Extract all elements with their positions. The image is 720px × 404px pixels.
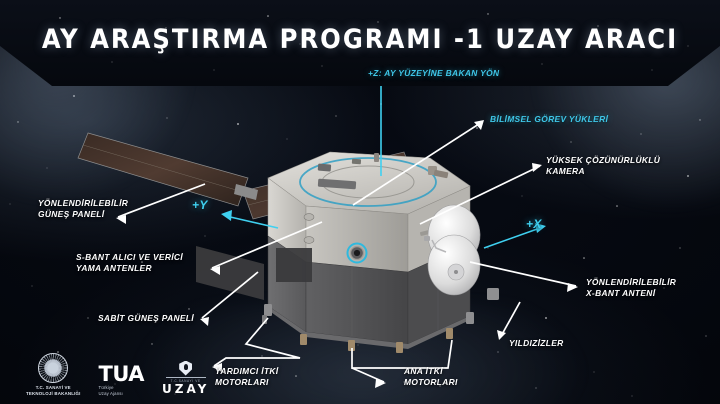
callout-yildizizler: YILDIZİZLER [509, 338, 564, 349]
high-resolution-camera [348, 244, 367, 263]
callout-s-bant-alici-ve-verici-yama-antenler: S-BANT ALICI VE VERİCİ YAMA ANTENLER [76, 252, 183, 274]
callout-bilimsel-gorev-yukleri: BİLİMSEL GÖREV YÜKLERİ [490, 114, 608, 125]
infographic-root: AY ARAŞTIRMA PROGRAMI -1 UZAY ARACI +Z: … [0, 0, 720, 404]
axis-label-x: +X [526, 219, 542, 230]
logo-ministry: T.C. SANAYİ VE TEKNOLOJİ BAKANLIĞI [26, 353, 81, 396]
logo-uzay: T.C.SANAYİ VE UZAY [162, 361, 209, 397]
callout-ana-itki-motorlari: ANA İTKİ MOTORLARI [404, 366, 458, 388]
callout-yuksek-cozunurluklu-kamera: YÜKSEK ÇÖZÜNÜRLÜKLÜ KAMERA [546, 155, 660, 177]
uzay-shield-icon [179, 361, 192, 376]
star-trackers-body [487, 288, 499, 300]
axis-label-y: +Y [192, 200, 208, 211]
page-title: AY ARAŞTIRMA PROGRAMI -1 UZAY ARACI [0, 24, 720, 55]
fixed-solar-panel [196, 246, 264, 300]
logo-uzay-wordmark: UZAY [162, 383, 209, 396]
footer-logos: T.C. SANAYİ VE TEKNOLOJİ BAKANLIĞI TUA T… [26, 353, 209, 396]
logo-ministry-caption: T.C. SANAYİ VE TEKNOLOJİ BAKANLIĞI [26, 385, 81, 396]
title-banner: AY ARAŞTIRMA PROGRAMI -1 UZAY ARACI [0, 0, 720, 86]
uzay-divider [166, 377, 206, 378]
callout-yonlendirilebilir-x-bant-anteni: YÖNLENDİRİLEBİLİR X-BANT ANTENİ [586, 277, 676, 299]
logo-tua-wordmark: TUA [99, 364, 144, 384]
callout-yonlendirilebilir-gunes-paneli: YÖNLENDİRİLEBİLİR GÜNEŞ PANELİ [38, 198, 128, 220]
ministry-seal-icon [38, 353, 68, 383]
logo-tua-subtitle: Türkiye Uzay Ajansı [99, 385, 144, 396]
callout-sabit-gunes-paneli: SABİT GÜNEŞ PANELİ [98, 313, 194, 324]
callout-yardimci-itki-motorlari: YARDIMCI İTKİ MOTORLARI [215, 366, 278, 388]
axis-label-z: +Z: AY YÜZEYİNE BAKAN YÖN [368, 68, 499, 79]
logo-tua: TUA Türkiye Uzay Ajansı [99, 364, 144, 396]
